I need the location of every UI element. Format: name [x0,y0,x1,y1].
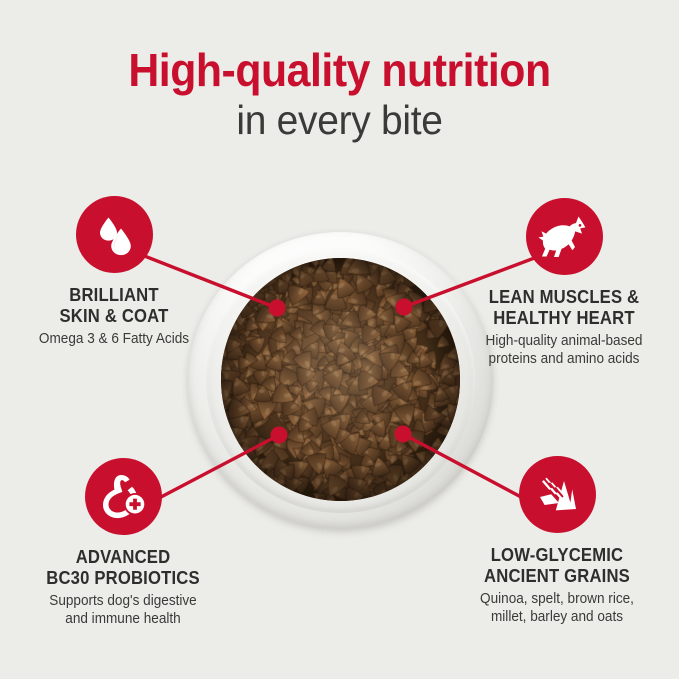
leader-dot-probiotics [271,427,288,444]
wheat-sheaf-icon [519,456,596,533]
feature-description: Quinoa, spelt, brown rice, millet, barle… [451,591,663,626]
feature-lean-muscles[interactable]: Lean Muscles & Healthy Heart High-qualit… [451,198,677,368]
feature-title: Brilliant Skin & Coat [14,284,214,326]
water-drops-icon [76,196,153,273]
feature-description: Omega 3 & 6 Fatty Acids [11,331,217,349]
stomach-plus-icon [85,458,162,535]
feature-description: High-quality animal-based proteins and a… [459,333,669,368]
feature-ancient-grains[interactable]: Low-Glycemic Ancient Grains Quinoa, spel… [443,456,671,626]
feature-description: Supports dog's digestive and immune heal… [20,593,226,628]
running-dog-icon [526,198,603,275]
feature-title: Advanced BC30 Probiotics [23,546,223,588]
leader-dot-ancient-grains [395,426,412,443]
leader-dot-skin-coat [269,300,286,317]
feature-title: Low-Glycemic Ancient Grains [454,544,659,586]
infographic-canvas: High-quality nutrition in every bite Bri… [0,0,679,679]
leader-dot-lean-muscles [396,299,413,316]
feature-probiotics[interactable]: Advanced BC30 Probiotics Supports dog's … [12,458,234,628]
feature-title: Lean Muscles & Healthy Heart [462,286,665,328]
feature-skin-coat[interactable]: Brilliant Skin & Coat Omega 3 & 6 Fatty … [3,196,225,349]
